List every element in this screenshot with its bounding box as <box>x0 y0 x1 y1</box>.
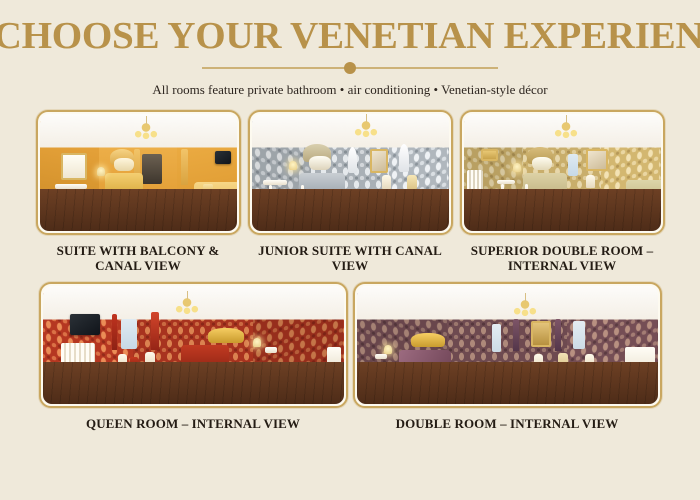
room-caption: QUEEN ROOM – INTERNAL VIEW <box>43 416 343 431</box>
room-photo <box>357 286 658 404</box>
room-caption: SUITE WITH BALCONY & CANAL VIEW <box>36 243 241 273</box>
room-photo <box>464 114 661 231</box>
room-card-superior-double-internal[interactable]: SUPERIOR DOUBLE ROOM – INTERNAL VIEW <box>460 110 665 273</box>
room-grid-top-row: SUITE WITH BALCONY & CANAL VIEW <box>0 110 700 273</box>
room-card-double-internal[interactable]: DOUBLE ROOM – INTERNAL VIEW <box>353 282 662 431</box>
room-photo-frame[interactable] <box>460 110 665 235</box>
room-photo <box>43 286 344 404</box>
room-photo <box>252 114 449 231</box>
room-photo-frame[interactable] <box>39 282 348 408</box>
room-scene-gold-yellow <box>40 114 237 231</box>
room-photo-frame[interactable] <box>36 110 241 235</box>
room-scene-red-damask <box>43 286 344 404</box>
room-caption: JUNIOR SUITE WITH CANAL VIEW <box>248 243 453 273</box>
room-scene-purple-damask <box>357 286 658 404</box>
gallery-header: CHOOSE YOUR VENETIAN EXPERIENCE All room… <box>0 0 700 98</box>
room-card-queen-internal[interactable]: QUEEN ROOM – INTERNAL VIEW <box>39 282 348 431</box>
room-card-junior-suite-canal[interactable]: JUNIOR SUITE WITH CANAL VIEW <box>248 110 453 273</box>
room-scene-gold-damask <box>464 114 661 231</box>
room-gallery-page: CHOOSE YOUR VENETIAN EXPERIENCE All room… <box>0 0 700 500</box>
room-caption: SUPERIOR DOUBLE ROOM – INTERNAL VIEW <box>460 243 665 273</box>
ornamental-divider <box>202 62 498 74</box>
divider-dot-icon <box>344 62 356 74</box>
room-photo-frame[interactable] <box>248 110 453 235</box>
room-photo-frame[interactable] <box>353 282 662 408</box>
room-caption: DOUBLE ROOM – INTERNAL VIEW <box>357 416 657 431</box>
room-scene-silver-damask <box>252 114 449 231</box>
room-photo <box>40 114 237 231</box>
page-subtitle: All rooms feature private bathroom • air… <box>0 82 700 98</box>
room-grid-bottom-row: QUEEN ROOM – INTERNAL VIEW <box>0 282 700 431</box>
page-title: CHOOSE YOUR VENETIAN EXPERIENCE <box>0 14 700 58</box>
room-card-suite-balcony-canal[interactable]: SUITE WITH BALCONY & CANAL VIEW <box>36 110 241 273</box>
